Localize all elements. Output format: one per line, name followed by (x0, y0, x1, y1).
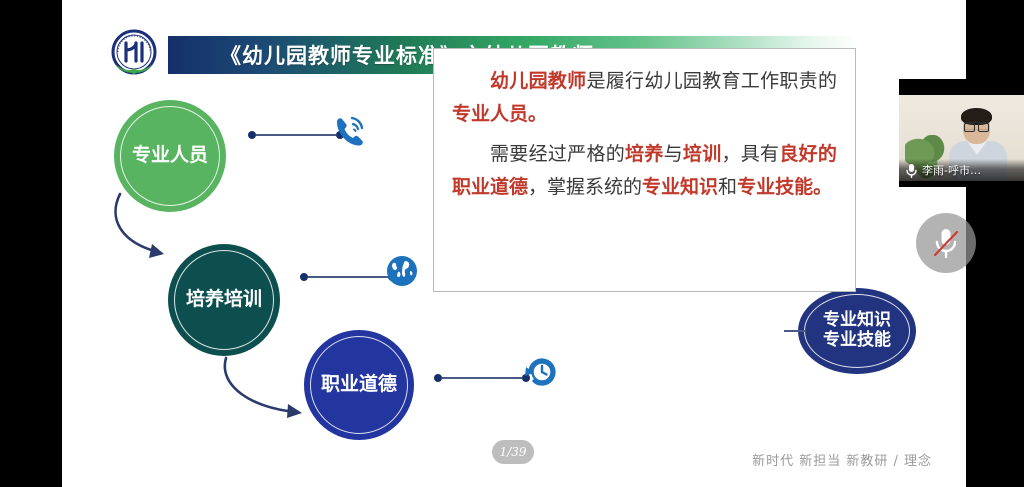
body-text: 与 (664, 143, 683, 165)
participant-video-tile[interactable]: 李雨-呼市… (899, 79, 1024, 187)
connector-segment (784, 330, 806, 332)
bubble-label-line1: 专业知识 (823, 311, 891, 331)
highlight-term: 专业知识 (642, 176, 718, 198)
video-person-glasses (964, 122, 989, 130)
meeting-screen-share-view: 《幼儿园教师专业标准》之幼儿园教师 专业人员 培养培训 职业道德 专业知识 (0, 0, 1024, 487)
presentation-slide: 《幼儿园教师专业标准》之幼儿园教师 专业人员 培养培训 职业道德 专业知识 (62, 0, 966, 487)
highlight-term: 培养 (625, 143, 664, 165)
connector-line-3 (434, 373, 530, 383)
definition-paragraph-1: 幼儿园教师是履行幼儿园教育工作职责的专业人员。 (452, 65, 837, 132)
connector-dot (248, 131, 256, 139)
clock-history-icon (522, 352, 562, 397)
bubble-label: 专业人员 (132, 145, 208, 167)
microphone-muted-icon (930, 225, 962, 261)
connector-line-4 (784, 326, 806, 336)
highlight-term: 专业人员。 (452, 103, 547, 125)
bubble-label: 培养培训 (186, 289, 262, 311)
definition-paragraph-2: 需要经过严格的培养与培训，具有良好的职业道德，掌握系统的专业知识和专业技能。 (452, 138, 837, 205)
body-text: 和 (718, 176, 737, 198)
highlight-term: 专业技能。 (737, 176, 832, 198)
connector-segment (308, 276, 388, 278)
concept-bubble-training[interactable]: 培养培训 (168, 244, 280, 356)
connector-dot (434, 374, 442, 382)
bubble-label: 职业道德 (321, 374, 397, 396)
microphone-icon (905, 163, 918, 178)
participant-name-label: 李雨-呼市… (922, 162, 981, 178)
body-text: 需要经过严格的 (490, 143, 625, 165)
concept-bubble-professional-ethics[interactable]: 职业道德 (304, 330, 414, 440)
highlight-term: 幼儿园教师 (490, 70, 586, 92)
mute-toggle-button[interactable] (916, 213, 976, 273)
bubble-label-line2: 专业技能 (823, 331, 891, 351)
body-text: ，具有 (721, 143, 779, 165)
school-emblem-icon (106, 26, 162, 82)
concept-bubble-knowledge-skills[interactable]: 专业知识 专业技能 (798, 288, 916, 374)
globe-icon (384, 253, 420, 294)
phone-signal-icon (328, 110, 370, 157)
connector-segment (442, 377, 522, 379)
connector-segment (256, 134, 336, 136)
highlight-term: 培训 (683, 143, 722, 165)
participant-name-bar: 李雨-呼市… (899, 159, 1024, 181)
connector-line-2 (300, 272, 396, 282)
concept-bubble-professional-staff[interactable]: 专业人员 (114, 100, 226, 212)
definition-text-box: 幼儿园教师是履行幼儿园教育工作职责的专业人员。 需要经过严格的培养与培训，具有良… (433, 48, 856, 292)
body-text: 是履行幼儿园教育工作职责的 (586, 70, 837, 92)
slide-page-indicator: 1/39 (492, 440, 534, 464)
body-text: ，掌握系统的 (528, 176, 642, 198)
slide-footer-note: 新时代 新担当 新教研 / 理念 (752, 450, 932, 469)
connector-dot (300, 273, 308, 281)
